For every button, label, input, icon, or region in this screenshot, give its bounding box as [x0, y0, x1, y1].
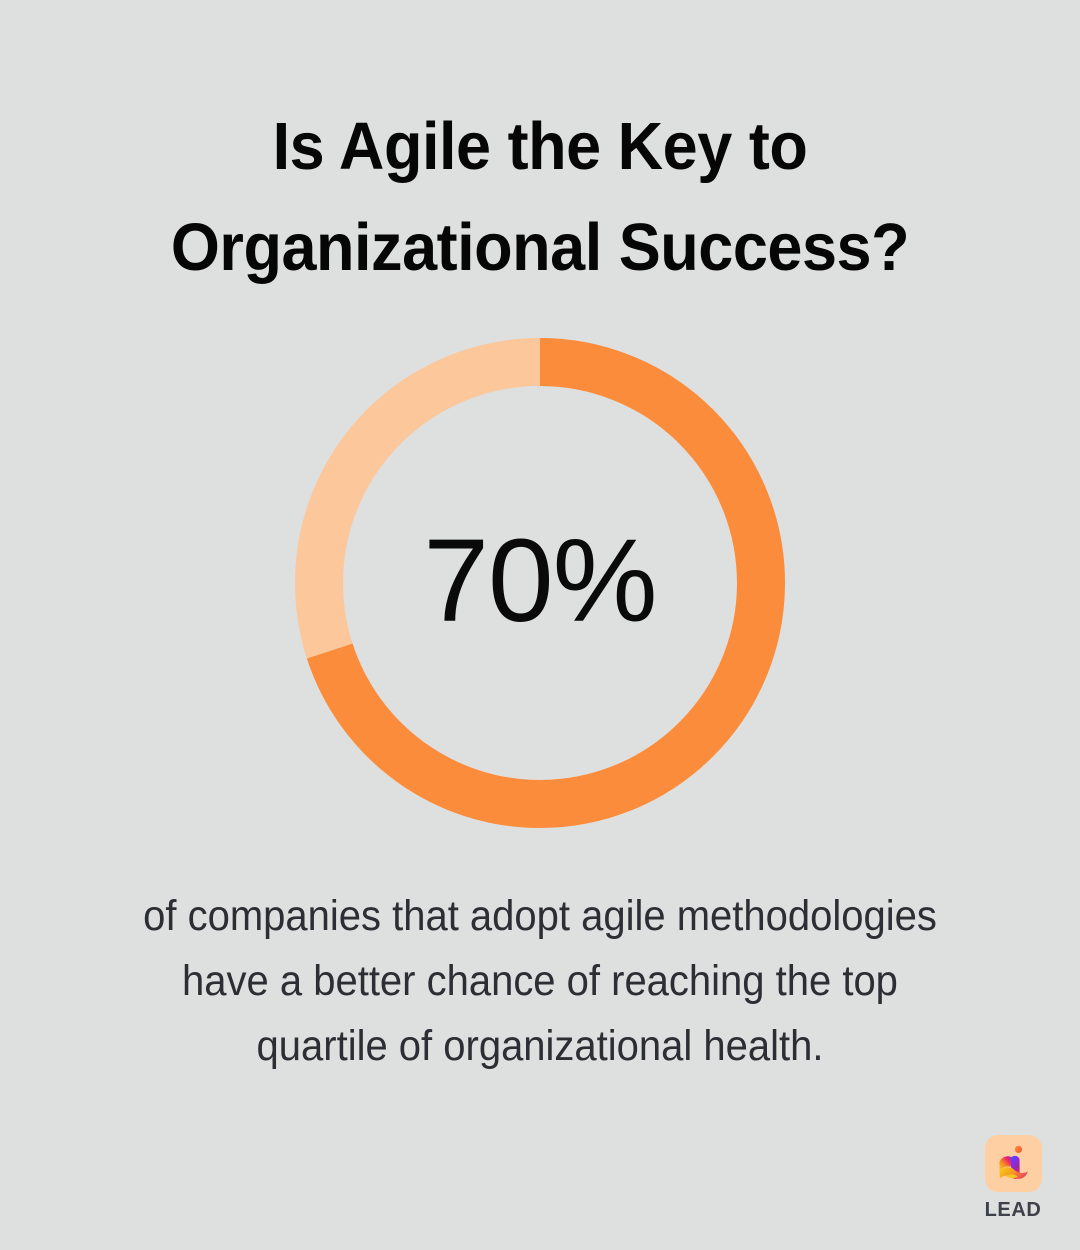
brand-logo: LEAD: [977, 1135, 1049, 1221]
caption-line-3: quartile of organizational health.: [38, 1014, 1042, 1079]
logo-tile: [985, 1135, 1042, 1192]
caption: of companies that adopt agile methodolog…: [0, 884, 1080, 1079]
donut-chart: 70%: [295, 338, 785, 828]
infographic-canvas: Is Agile the Key to Organizational Succe…: [0, 0, 1080, 1250]
page-title: Is Agile the Key to Organizational Succe…: [0, 96, 1080, 298]
logo-wordmark: LEAD: [985, 1199, 1042, 1221]
donut-center-label: 70%: [295, 338, 785, 828]
title-line-2: Organizational Success?: [32, 197, 1047, 298]
caption-line-1: of companies that adopt agile methodolog…: [38, 884, 1042, 949]
title-line-1: Is Agile the Key to: [32, 96, 1047, 197]
caption-line-2: have a better chance of reaching the top: [38, 949, 1042, 1014]
lead-i-ribbon-icon: [985, 1135, 1042, 1192]
donut-value-text: 70%: [423, 522, 656, 640]
